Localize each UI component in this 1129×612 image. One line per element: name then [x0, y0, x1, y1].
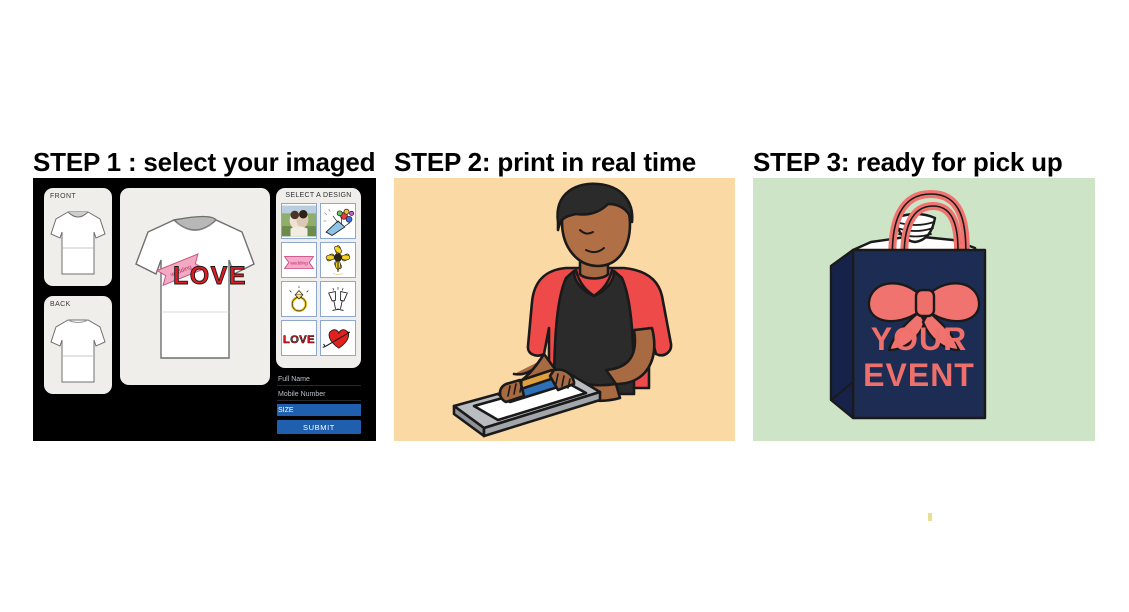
design-ring[interactable]: [281, 281, 317, 317]
poster-canvas: STEP 1 : select your imaged STEP 2: prin…: [0, 0, 1129, 612]
back-label: BACK: [50, 301, 71, 308]
design-sunflower[interactable]: [320, 242, 356, 278]
tshirt-front-thumbnail[interactable]: FRONT: [44, 188, 112, 286]
design-grid: wedding: [281, 203, 356, 356]
couple-photo-icon: [282, 204, 316, 238]
step-3-panel: LOVE YOUR: [753, 178, 1095, 441]
design-couple-photo[interactable]: [281, 203, 317, 239]
heart-with-arrow-icon: [321, 321, 355, 355]
tshirt-main-preview[interactable]: wedding LOVE: [120, 188, 270, 385]
step-3-title: STEP 3: ready for pick up: [753, 147, 1063, 178]
step-1-title: STEP 1 : select your imaged: [33, 147, 375, 178]
design-love-text[interactable]: LOVE: [281, 320, 317, 356]
bag-text-line-1: YOUR: [871, 321, 967, 357]
step-2-panel: [394, 178, 735, 441]
engagement-ring-icon: [282, 282, 316, 316]
select-a-design-heading: SELECT A DESIGN: [276, 192, 361, 199]
tshirt-back-icon: [48, 312, 108, 388]
sunflower-icon: [321, 243, 355, 277]
design-wedding-banner[interactable]: wedding: [281, 242, 317, 278]
design-heart-arrow[interactable]: [320, 320, 356, 356]
stray-mark: [928, 513, 932, 521]
front-label: FRONT: [50, 193, 76, 200]
mobile-number-field[interactable]: Mobile Number: [277, 389, 361, 401]
preview-love-text: LOVE: [173, 262, 247, 290]
kiosk-screen: FRONT BACK: [33, 178, 376, 441]
confetti-bouquet-icon: [321, 204, 355, 238]
tshirt-preview-graphic: wedding LOVE: [130, 206, 260, 374]
step-1-panel: FRONT BACK: [33, 178, 376, 441]
wedding-banner-text: wedding: [290, 261, 308, 266]
screen-printer-illustration: [394, 178, 735, 441]
love-text-icon: LOVE: [282, 321, 316, 355]
champagne-toast-icon: [321, 282, 355, 316]
step-2-title: STEP 2: print in real time: [394, 147, 696, 178]
bag-text-line-2: EVENT: [863, 357, 975, 393]
full-name-field[interactable]: Full Name: [277, 374, 361, 386]
love-text-glyph: LOVE: [283, 334, 315, 346]
gift-bag-illustration: LOVE YOUR: [753, 178, 1095, 441]
wedding-banner-icon: wedding: [282, 243, 316, 277]
tshirt-front-icon: [48, 204, 108, 280]
submit-button[interactable]: SUBMIT: [277, 420, 361, 434]
design-selector-panel: SELECT A DESIGN: [276, 188, 361, 368]
design-champagne-toast[interactable]: [320, 281, 356, 317]
kiosk-form: Full Name Mobile Number SIZE SUBMIT: [277, 374, 361, 434]
design-confetti-bouquet[interactable]: [320, 203, 356, 239]
size-select[interactable]: SIZE: [277, 404, 361, 416]
tshirt-back-thumbnail[interactable]: BACK: [44, 296, 112, 394]
